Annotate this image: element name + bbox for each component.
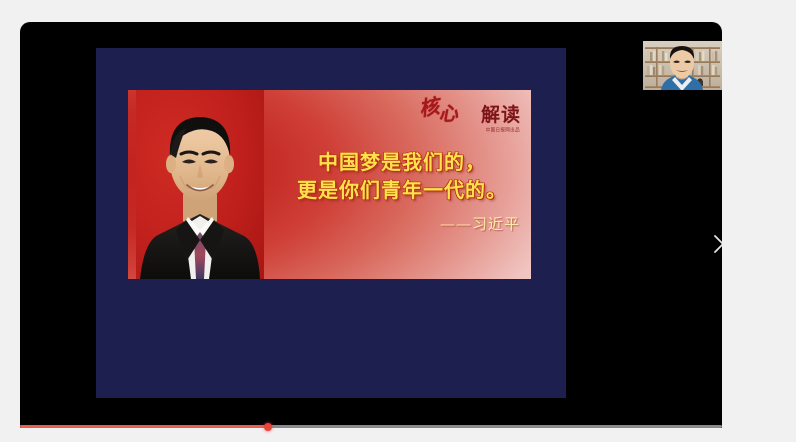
headline-line-2: 更是你们青年一代的。 [278, 176, 526, 204]
headline-line-1: 中国梦是我们的， [278, 148, 526, 176]
shared-screen-slide: 核心 解读 中国日报网出品 中国梦是我们的， 更是你们青年一代的。 ——习近平 [96, 48, 566, 398]
logo-cursive-text: 核心 [417, 93, 455, 120]
slide-text-block: 中国梦是我们的， 更是你们青年一代的。 ——习近平 [278, 148, 526, 234]
xi-jinping-portrait [136, 90, 264, 279]
webcam-thumbnail[interactable] [643, 41, 722, 90]
program-logo: 核心 解读 中国日报网出品 [417, 96, 521, 144]
headline-attribution: ——习近平 [278, 213, 526, 234]
video-player[interactable]: 核心 解读 中国日报网出品 中国梦是我们的， 更是你们青年一代的。 ——习近平 [20, 22, 722, 428]
logo-main-text: 解读 [481, 106, 521, 125]
playback-progress-handle[interactable] [264, 423, 272, 431]
playback-progress-bar[interactable] [20, 425, 722, 428]
chevron-right-icon [713, 234, 722, 254]
logo-char-1: 核 [417, 94, 439, 121]
playback-progress-fill [20, 425, 268, 428]
logo-subtitle: 中国日报网出品 [486, 127, 520, 134]
slide-banner-image: 核心 解读 中国日报网出品 中国梦是我们的， 更是你们青年一代的。 ——习近平 [128, 90, 531, 279]
next-slide-button[interactable] [708, 229, 722, 259]
logo-char-2: 心 [438, 105, 456, 125]
page-root: 核心 解读 中国日报网出品 中国梦是我们的， 更是你们青年一代的。 ——习近平 [0, 0, 796, 442]
